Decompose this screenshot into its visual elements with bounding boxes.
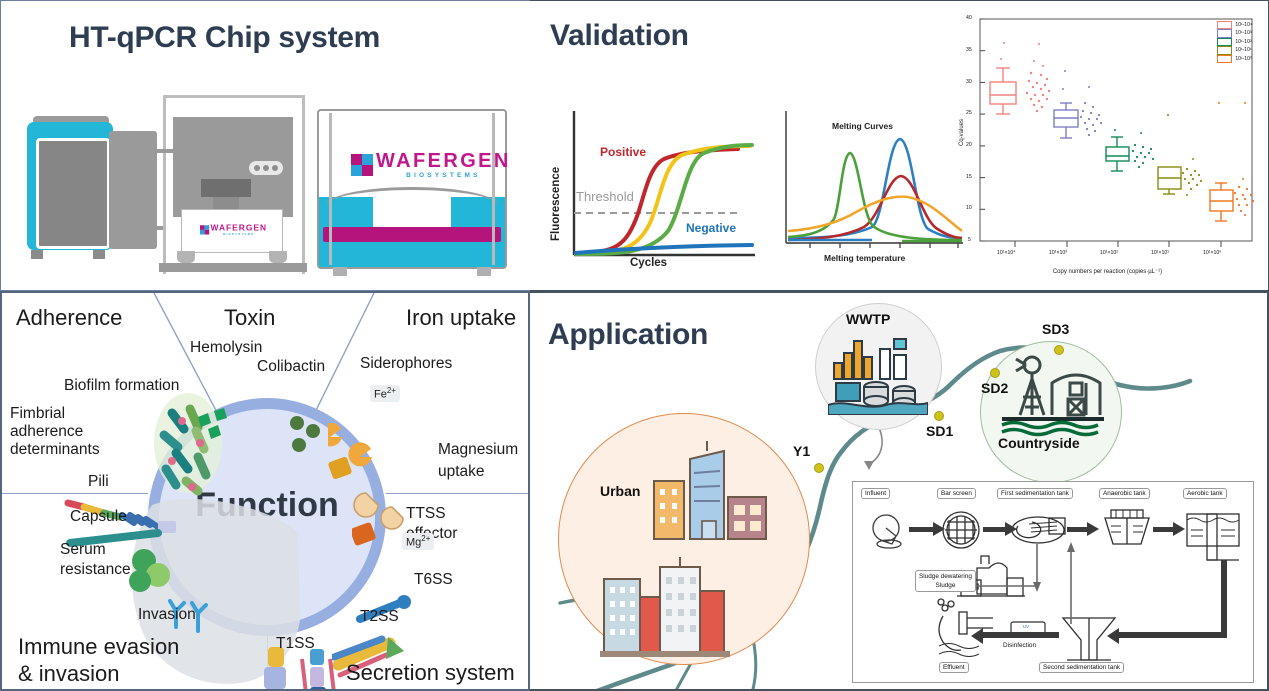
flow-node-sludge-line2: Sludge: [919, 581, 972, 590]
cq-legend-item-4: 10¹-10⁰: [1217, 55, 1252, 63]
figure-root: HT-qPCR Chip system: [0, 0, 1269, 691]
cq-ytick-10: 10: [966, 205, 972, 211]
cq-xtick-4: 10¹×10⁰: [1203, 250, 1221, 256]
amplification-ylabel: Fluorescence: [550, 167, 562, 241]
cq-boxplot-svg: [955, 11, 1260, 283]
thermocycler-foot-left: [31, 250, 43, 259]
ion-label-iron: Fe2+: [370, 385, 400, 402]
quadrant-label-immune-evasion-2: & invasion: [18, 661, 120, 687]
cq-ytick-40: 40: [966, 15, 972, 21]
cq-ylabel: Cq-values: [959, 119, 965, 146]
ion-label-magnesium: Mg2+: [402, 533, 434, 550]
amplification-plot-svg: [552, 107, 757, 267]
quadrant-label-iron-uptake: Iron uptake: [406, 305, 516, 331]
wafergen-subtitle: BIOSYSTEMS: [376, 172, 511, 179]
thermocycler-body: [27, 122, 113, 250]
quadrant-label-adherence: Adherence: [16, 305, 122, 331]
sampling-dot-y1[interactable]: [814, 463, 824, 473]
dispenser-base: [159, 263, 307, 272]
cq-legend-label-3: 10¹-10¹: [1235, 46, 1251, 54]
chip-reader-foot-right: [477, 267, 491, 276]
panel-function: Function: [0, 291, 530, 691]
cq-ytick-15: 15: [966, 174, 972, 180]
urban-buildings-lower: [600, 551, 750, 661]
amplification-xlabel: Cycles: [630, 257, 667, 269]
flow-label-uv: UV: [1023, 624, 1029, 629]
chip-reader-foot-left: [333, 267, 347, 276]
dispenser-foot-right: [269, 251, 287, 263]
flow-node-aerobic-tank: Aerobic tank: [1183, 488, 1227, 499]
cq-xtick-3: 10¹×10¹: [1151, 250, 1169, 256]
flow-node-sludge-line1: Sludge dewatering: [919, 572, 972, 581]
quadrant-label-toxin: Toxin: [224, 305, 275, 331]
instrument-cable: [119, 156, 163, 230]
melting-xlabel: Melting temperature: [824, 253, 905, 263]
cq-legend-label-2: 10¹-10²: [1235, 38, 1251, 46]
flow-label-disinfection: Disinfection: [1003, 642, 1036, 649]
quadrant-label-immune-evasion: Immune evasion: [18, 634, 179, 660]
label-serum-2: resistance: [60, 561, 131, 578]
chip-reader-post-right: [492, 113, 495, 265]
positive-annotation: Positive: [600, 145, 646, 159]
sampling-label-y1: Y1: [793, 443, 810, 459]
label-t1ss: T1SS: [276, 635, 315, 652]
cq-legend-label-1: 10¹-10³: [1235, 29, 1251, 37]
urban-buildings-upper: [648, 441, 788, 551]
negative-annotation: Negative: [686, 221, 736, 235]
thermocycler-foot-right: [93, 250, 105, 259]
label-magnesium-1: Magnesium: [438, 441, 518, 458]
cq-xlabel: Copy numbers per reaction (copies·µL⁻¹): [955, 268, 1260, 275]
wafergen-wordmark: WAFERGEN: [211, 224, 268, 233]
region-label-urban: Urban: [600, 483, 640, 499]
panel-validation-title: Validation: [550, 19, 689, 53]
panel-application: Application Urban: [530, 291, 1269, 691]
label-ttss-1: TTSS: [406, 505, 446, 522]
wwtp-flow-svg: [853, 482, 1253, 682]
amplification-plot: Positive Threshold Negative Cycles Fluor…: [552, 107, 757, 267]
label-siderophores: Siderophores: [360, 355, 452, 372]
label-colibactin: Colibactin: [257, 358, 325, 375]
label-t6ss: T6SS: [414, 571, 453, 588]
label-hemolysin: Hemolysin: [190, 339, 262, 356]
hemolysin-molecules: [190, 403, 250, 443]
melting-title: Melting Curves: [832, 121, 893, 131]
label-pili: Pili: [88, 473, 109, 490]
sampling-dot-sd1[interactable]: [934, 411, 944, 421]
cq-legend-item-2: 10¹-10²: [1217, 38, 1252, 46]
chip-reader-stripe: [323, 227, 501, 242]
sampling-label-sd2: SD2: [981, 380, 1008, 396]
dispenser-tray-neck: [213, 197, 239, 209]
label-magnesium-2: uptake: [438, 463, 485, 480]
dispenser-port: [249, 161, 283, 175]
wafergen-logo-large: WAFERGEN BIOSYSTEMS: [351, 151, 511, 179]
flow-node-second-sedimentation-tank: Second sedimentation tank: [1039, 662, 1124, 673]
cq-ytick-30: 30: [966, 79, 972, 85]
region-label-wwtp: WWTP: [846, 311, 890, 327]
panel-chip-title: HT-qPCR Chip system: [69, 21, 380, 55]
cq-ytick-25: 25: [966, 110, 972, 116]
label-t2ss: T2SS: [360, 608, 399, 625]
wafergen-mark-icon: [351, 154, 373, 176]
cq-ytick-35: 35: [966, 47, 972, 53]
chip-reader-post-left: [329, 113, 332, 265]
flow-node-first-sedimentation-tank: First sedimentation tank: [997, 488, 1073, 499]
wafergen-wordmark: WAFERGEN: [376, 150, 511, 172]
sampling-label-sd3: SD3: [1042, 321, 1069, 337]
cq-boxplot: 40 35 30 25 20 15 10 5 10¹×10⁴ 10¹×10³ 1…: [955, 11, 1260, 283]
wafergen-subtitle: BIOSYSTEMS: [211, 233, 268, 236]
cq-legend: 10¹-10⁴ 10¹-10³ 10¹-10² 10¹-10¹ 10¹-10⁰: [1217, 21, 1252, 63]
sampling-dot-sd3[interactable]: [1054, 345, 1064, 355]
cq-legend-label-4: 10¹-10⁰: [1235, 55, 1251, 63]
flow-node-sludge-dewatering: Sludge dewatering Sludge: [915, 570, 976, 592]
wafergen-logo-small: WAFERGEN BIOSYSTEMS: [200, 224, 267, 236]
label-fimbrial-1: Fimbrial: [10, 405, 65, 422]
chip-loader-unit: WAFERGEN BIOSYSTEMS: [181, 209, 283, 253]
cq-xtick-1: 10¹×10³: [1049, 250, 1067, 256]
wwtp-process-flow: Influent Bar screen First sedimentation …: [852, 481, 1254, 683]
wafergen-mark-icon: [200, 225, 209, 234]
label-biofilm-formation: Biofilm formation: [64, 377, 179, 394]
cq-ytick-5: 5: [968, 237, 971, 243]
label-fimbrial-2: adherence: [10, 423, 83, 440]
flow-node-effluent: Effluent: [939, 662, 969, 673]
dispenser-tray: [201, 179, 251, 197]
cq-legend-item-0: 10¹-10⁴: [1217, 21, 1252, 29]
panel-chip-system: HT-qPCR Chip system: [0, 0, 530, 291]
cq-legend-item-3: 10¹-10¹: [1217, 46, 1252, 54]
label-capsule: Capsule: [70, 508, 127, 525]
cq-legend-item-1: 10¹-10³: [1217, 29, 1252, 37]
label-fimbrial-3: determinants: [10, 441, 100, 458]
cq-legend-label-0: 10¹-10⁴: [1235, 21, 1252, 29]
panel-validation: Validation Positive Threshold Negative C…: [530, 0, 1269, 291]
flow-node-bar-screen: Bar screen: [937, 488, 976, 499]
threshold-annotation: Threshold: [576, 189, 634, 204]
label-invasion: Invasion: [138, 606, 196, 623]
melting-curves-plot: Melting Curves Melting temperature: [780, 107, 965, 267]
label-serum-1: Serum: [60, 541, 106, 558]
sampling-label-sd1: SD1: [926, 423, 953, 439]
countryside-icon: [992, 353, 1112, 438]
cq-ytick-20: 20: [966, 142, 972, 148]
sampling-dot-sd2[interactable]: [990, 368, 1000, 378]
cq-xtick-2: 10¹×10²: [1100, 250, 1118, 256]
flow-node-influent: Influent: [861, 488, 890, 499]
wwtp-icon: [828, 333, 928, 415]
chip-reader-illustration: WAFERGEN BIOSYSTEMS: [317, 109, 507, 269]
cq-xtick-0: 10¹×10⁴: [997, 250, 1016, 256]
quadrant-label-secretion-system: Secretion system: [346, 660, 515, 686]
dispenser-foot-left: [177, 251, 195, 263]
melting-curves-svg: [780, 107, 965, 267]
flow-node-anaerobic-tank: Anaerobic tank: [1099, 488, 1150, 499]
thermocycler-screen: [36, 138, 110, 249]
